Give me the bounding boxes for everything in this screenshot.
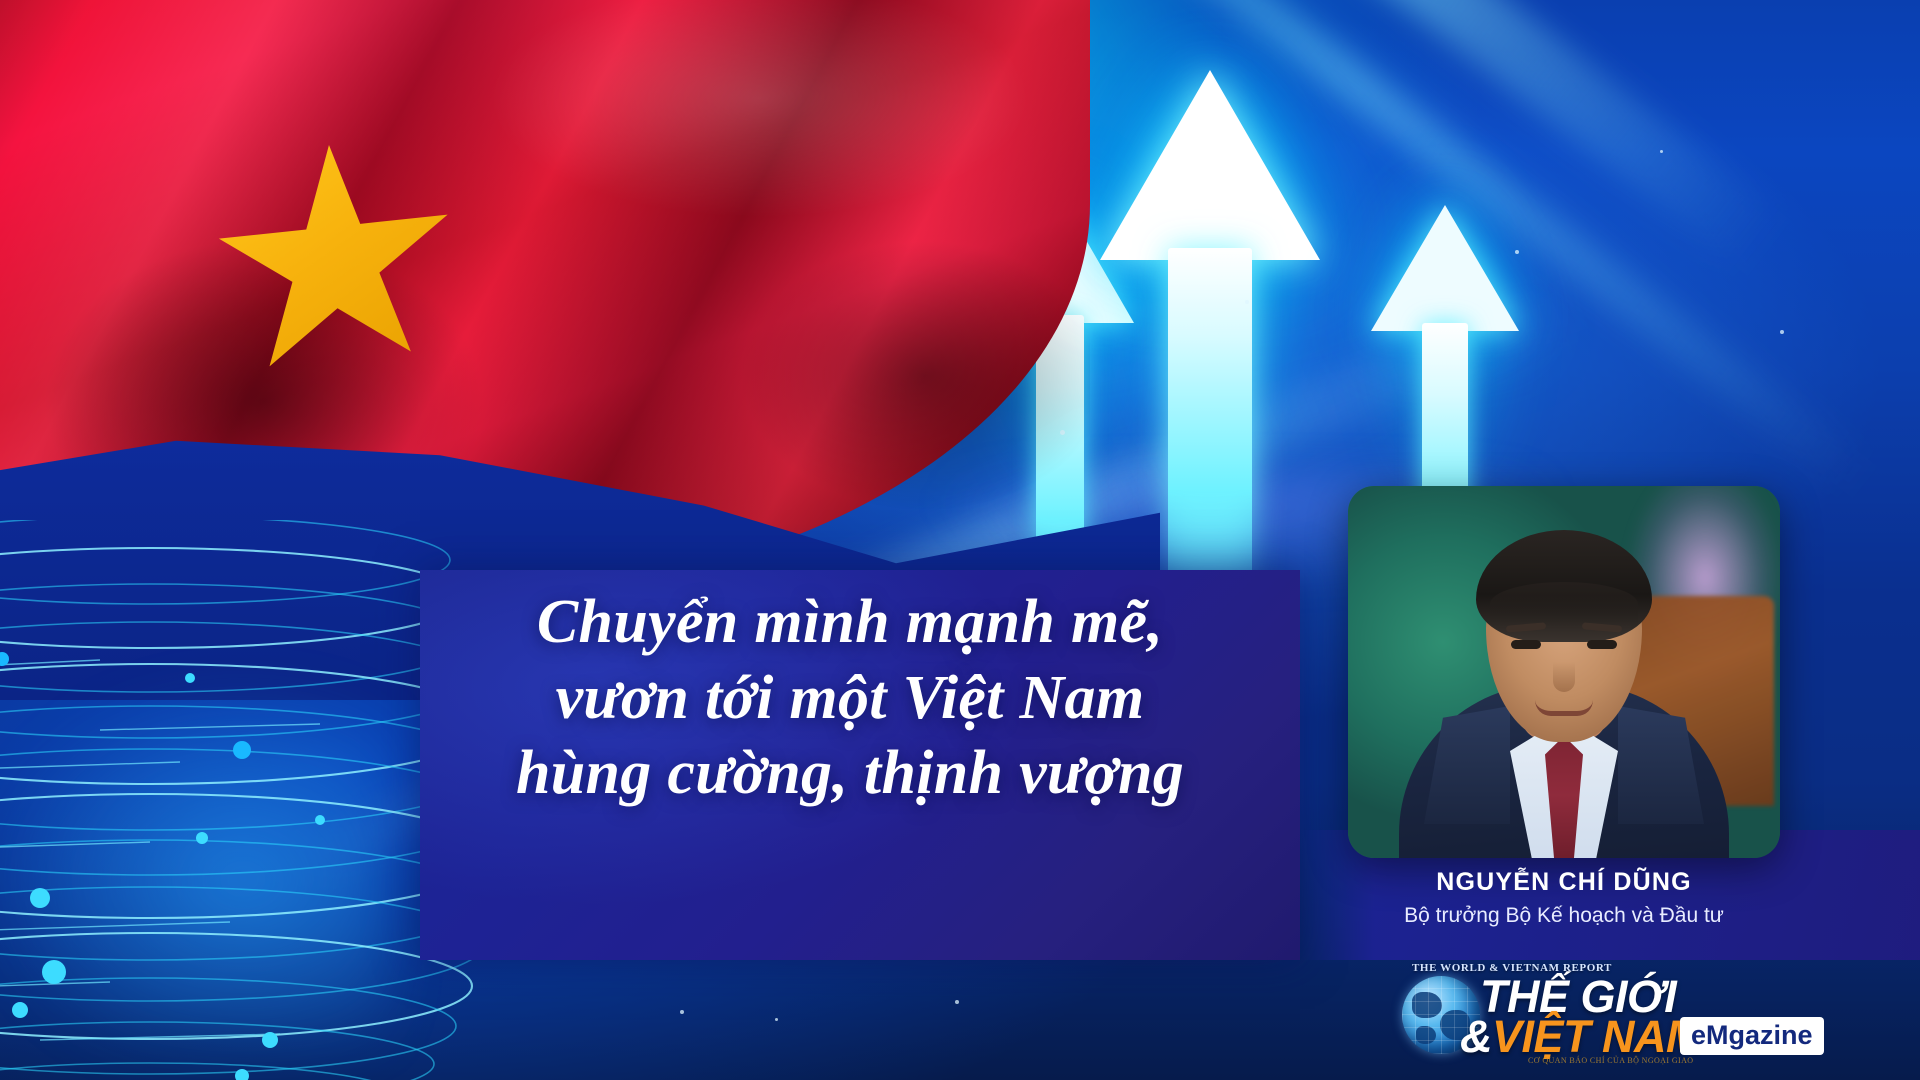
publication-logo[interactable]: THE WORLD & VIETNAM REPORT THẾ GIỚI &VIỆ… (1368, 962, 1788, 1070)
star-dot (775, 1018, 778, 1021)
star-dot (1780, 330, 1784, 334)
emagazine-cover: ✦ (0, 0, 1920, 1080)
credit-block: NGUYỄN CHÍ DŨNG Bộ trưởng Bộ Kế hoạch và… (1348, 868, 1780, 928)
star-dot (1245, 300, 1249, 304)
star-dot (680, 1010, 684, 1014)
emagazine-badge: eMgazine (1680, 1017, 1824, 1055)
logo-line-2-text: VIỆT NAM (1492, 1011, 1703, 1062)
portrait-photo (1348, 486, 1780, 858)
upward-arrow-icon (1100, 70, 1320, 590)
headline-line-2: vươn tới một Việt Nam (400, 661, 1300, 737)
star-dot (955, 1000, 959, 1004)
headline-line-3: hùng cường, thịnh vượng (400, 736, 1300, 812)
logo-line-2: &VIỆT NAM (1460, 1014, 1703, 1059)
logo-subtext: CƠ QUAN BÁO CHÍ CỦA BỘ NGOẠI GIAO (1528, 1056, 1693, 1065)
star-dot (1515, 250, 1519, 254)
page-title: Chuyển mình mạnh mẽ, vươn tới một Việt N… (400, 585, 1300, 812)
person-title: Bộ trưởng Bộ Kế hoạch và Đầu tư (1348, 904, 1780, 928)
ampersand: & (1460, 1011, 1492, 1062)
star-dot (1660, 150, 1663, 153)
headline-line-1: Chuyển mình mạnh mẽ, (400, 585, 1300, 661)
person-name: NGUYỄN CHÍ DŨNG (1348, 868, 1780, 897)
